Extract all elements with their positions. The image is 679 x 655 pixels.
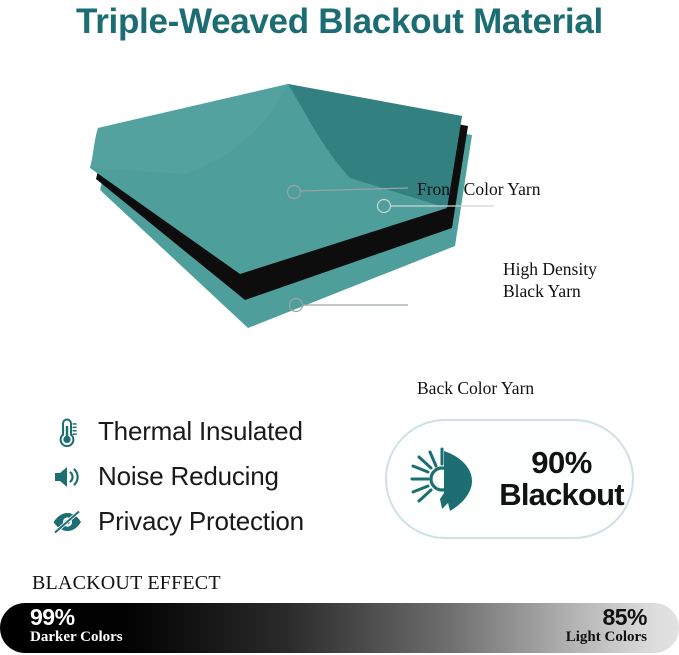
blackout-word: Blackout	[499, 477, 624, 512]
feature-item-noise: Noise Reducing	[48, 455, 378, 498]
blackout-badge: 90% Blackout	[385, 419, 634, 539]
thermometer-icon	[48, 415, 86, 449]
callout-label-middle: High Density Black Yarn	[503, 258, 597, 303]
blackout-effect-right-caption: Light Colors	[566, 630, 647, 645]
callout-label-front: Front Color Yarn	[417, 178, 541, 200]
feature-list: Thermal Insulated Noise Reducing Privacy…	[48, 410, 378, 545]
blackout-effect-left-stat: 99% Darker Colors	[30, 606, 123, 645]
feature-label-privacy: Privacy Protection	[98, 506, 304, 537]
blackout-effect-left-percent: 99%	[30, 606, 123, 629]
feature-item-thermal: Thermal Insulated	[48, 410, 378, 453]
blackout-percent: 90%	[531, 445, 592, 480]
eye-slash-icon	[48, 505, 86, 539]
blackout-effect-right-stat: 85% Light Colors	[566, 606, 647, 645]
blackout-effect-title: BLACKOUT EFFECT	[32, 572, 221, 595]
blackout-effect-gradient-bar: 99% Darker Colors 85% Light Colors	[0, 603, 679, 653]
feature-item-privacy: Privacy Protection	[48, 500, 378, 543]
speaker-icon	[48, 460, 86, 494]
feature-label-noise: Noise Reducing	[98, 461, 279, 492]
callout-label-back: Back Color Yarn	[417, 377, 534, 399]
sun-blocked-icon	[403, 440, 481, 518]
fabric-layer-diagram: Front Color Yarn High Density Black Yarn…	[0, 78, 679, 353]
blackout-badge-text: 90% Blackout	[491, 447, 632, 511]
feature-label-thermal: Thermal Insulated	[98, 416, 303, 447]
page-title: Triple-Weaved Blackout Material	[0, 2, 679, 42]
blackout-effect-right-percent: 85%	[566, 606, 647, 629]
blackout-effect-left-caption: Darker Colors	[30, 630, 123, 645]
